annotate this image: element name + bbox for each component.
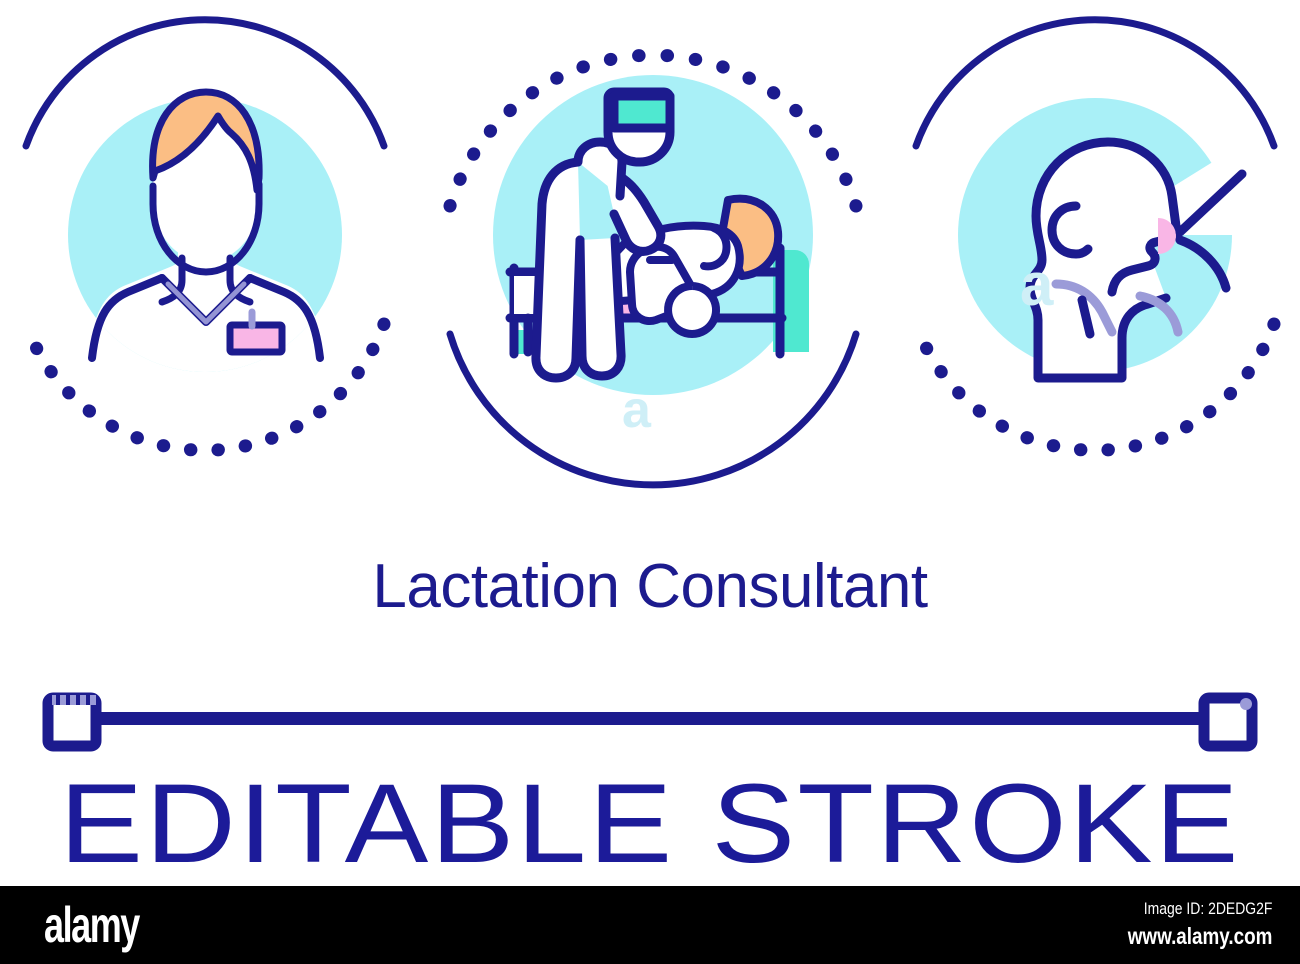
- stroke-width-track: [78, 712, 1220, 725]
- alamy-footer-bar: alamy Image ID: 2DEDG2F www.alamy.com: [0, 886, 1300, 964]
- footer-meta: Image ID: 2DEDG2F www.alamy.com: [1096, 898, 1272, 950]
- concept-icon-consultant-portrait[interactable]: [0, 0, 410, 490]
- artwork-canvas: a a Lactation Consultant EDITABLE STRO: [0, 0, 1300, 964]
- consultant-leg: [580, 238, 621, 376]
- concept-title: Lactation Consultant: [0, 556, 1300, 618]
- stroke-width-handle-left: [48, 695, 96, 746]
- stroke-width-slider[interactable]: [0, 682, 1300, 758]
- alamy-url-label[interactable]: www.alamy.com: [1127, 922, 1272, 950]
- concept-icon-baby-latching[interactable]: [890, 0, 1300, 490]
- consultant-body: [536, 162, 580, 378]
- baby-head: [668, 286, 716, 334]
- concept-icon-consultant-assisting-mother[interactable]: [428, 0, 878, 490]
- image-id-label: Image ID: 2DEDG2F: [1127, 898, 1272, 920]
- stroke-width-handle-right: [1204, 698, 1252, 746]
- alamy-logo[interactable]: alamy: [44, 896, 139, 954]
- concept-icon-row: [0, 0, 1300, 500]
- editable-stroke-caption: EDITABLE STROKE: [0, 770, 1300, 878]
- consultant-cap: [608, 92, 670, 162]
